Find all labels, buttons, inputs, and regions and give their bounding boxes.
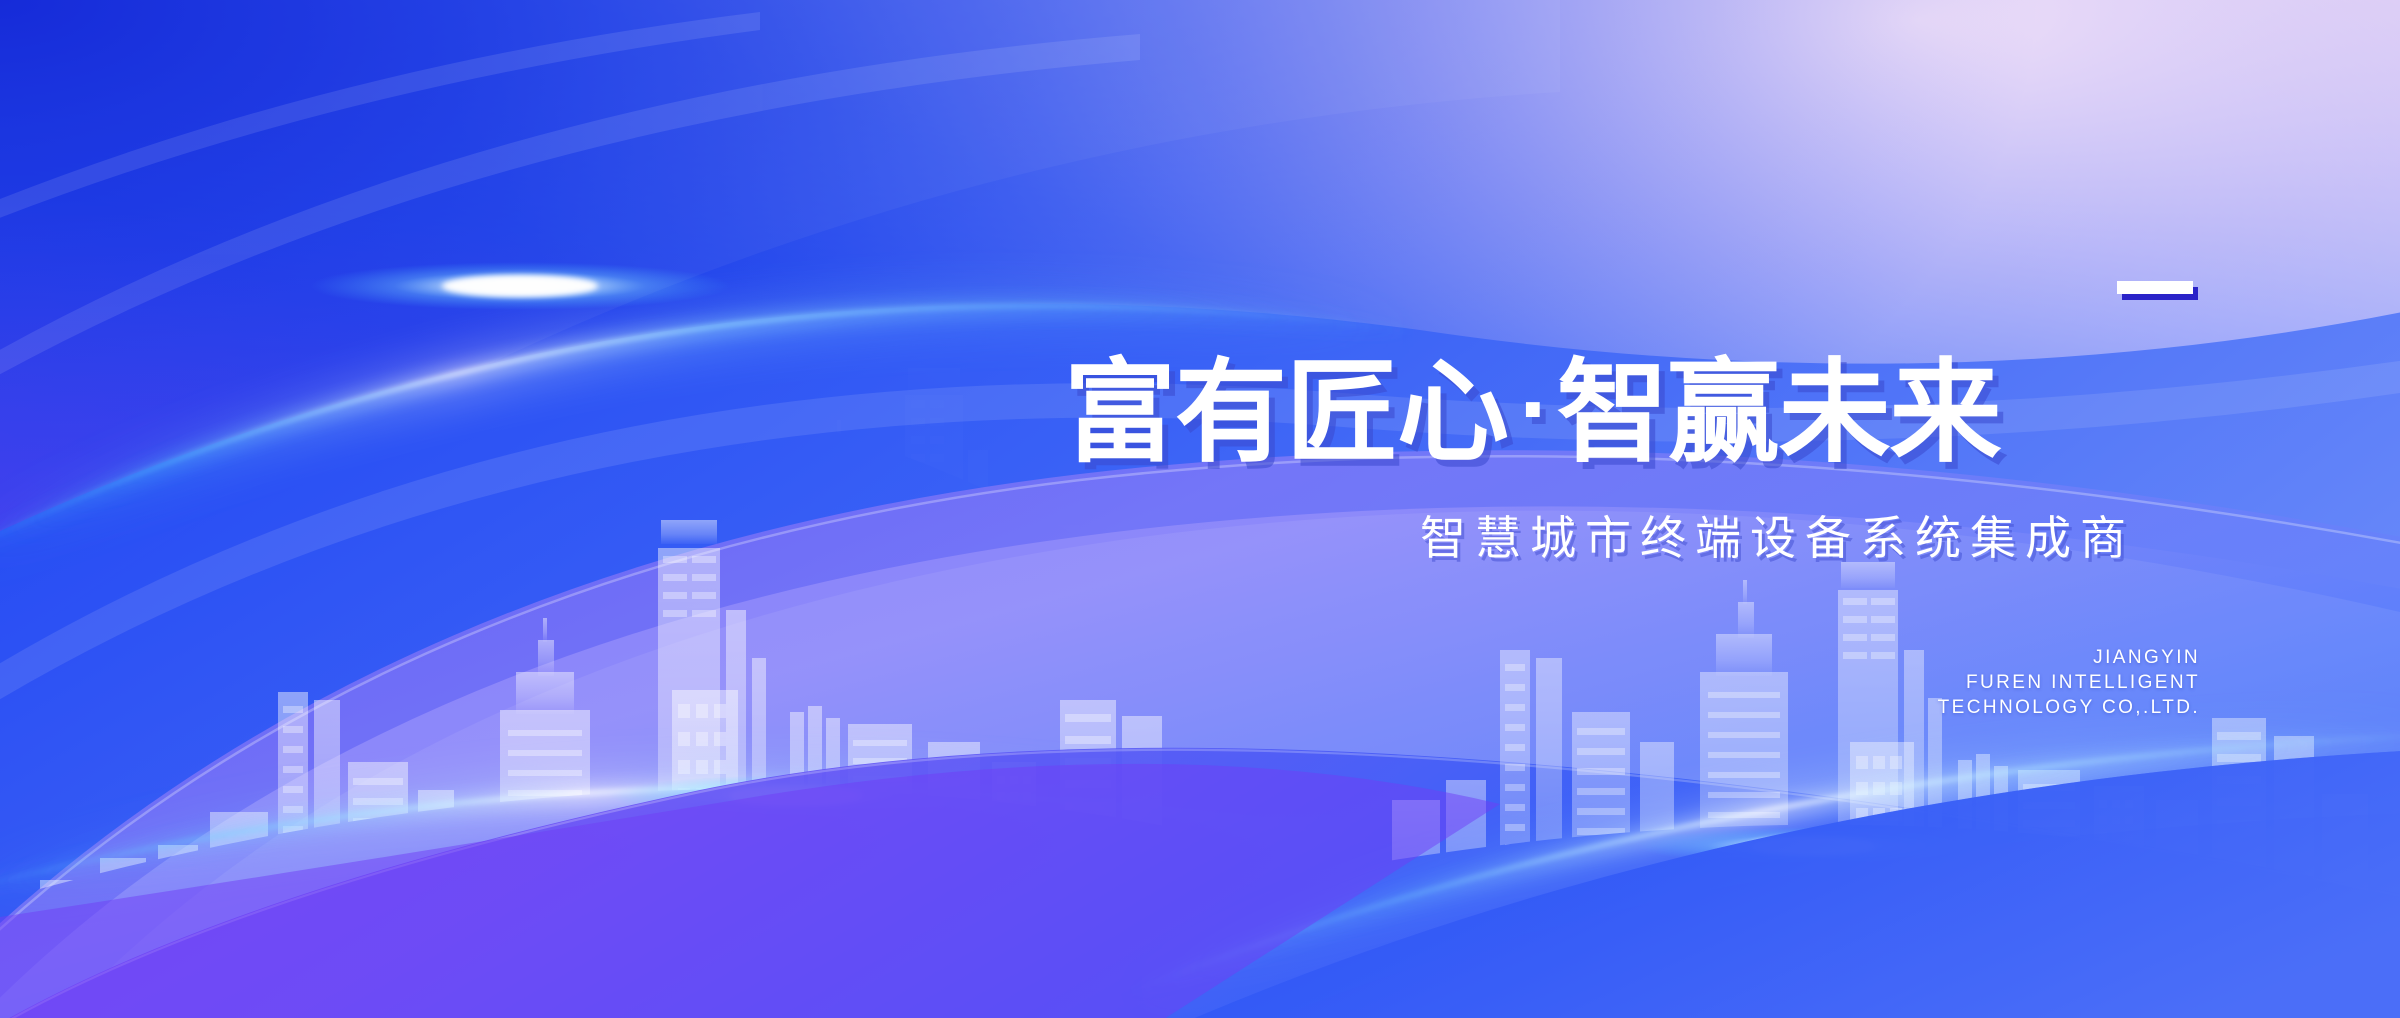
headline-left: 富有匠心	[1064, 348, 1508, 478]
company-line-name: FUREN INTELLIGENT	[1760, 670, 2200, 695]
accent-dash-icon	[2117, 281, 2193, 294]
company-line-suffix: TECHNOLOGY CO,.LTD.	[1760, 695, 2200, 720]
background-artwork	[0, 0, 2400, 1018]
headline-right: 智赢未来	[1557, 348, 2001, 478]
hero-banner: 富有匠心·智赢未来 智慧城市终端设备系统集成商 JIANGYIN FUREN I…	[0, 0, 2400, 1018]
headline-separator: ·	[1508, 366, 1557, 456]
page-subtitle: 智慧城市终端设备系统集成商	[1420, 510, 2210, 566]
company-name-block: JIANGYIN FUREN INTELLIGENT TECHNOLOGY CO…	[1760, 645, 2200, 720]
page-title: 富有匠心·智赢未来	[1064, 352, 2204, 474]
company-line-city: JIANGYIN	[1760, 645, 2200, 670]
